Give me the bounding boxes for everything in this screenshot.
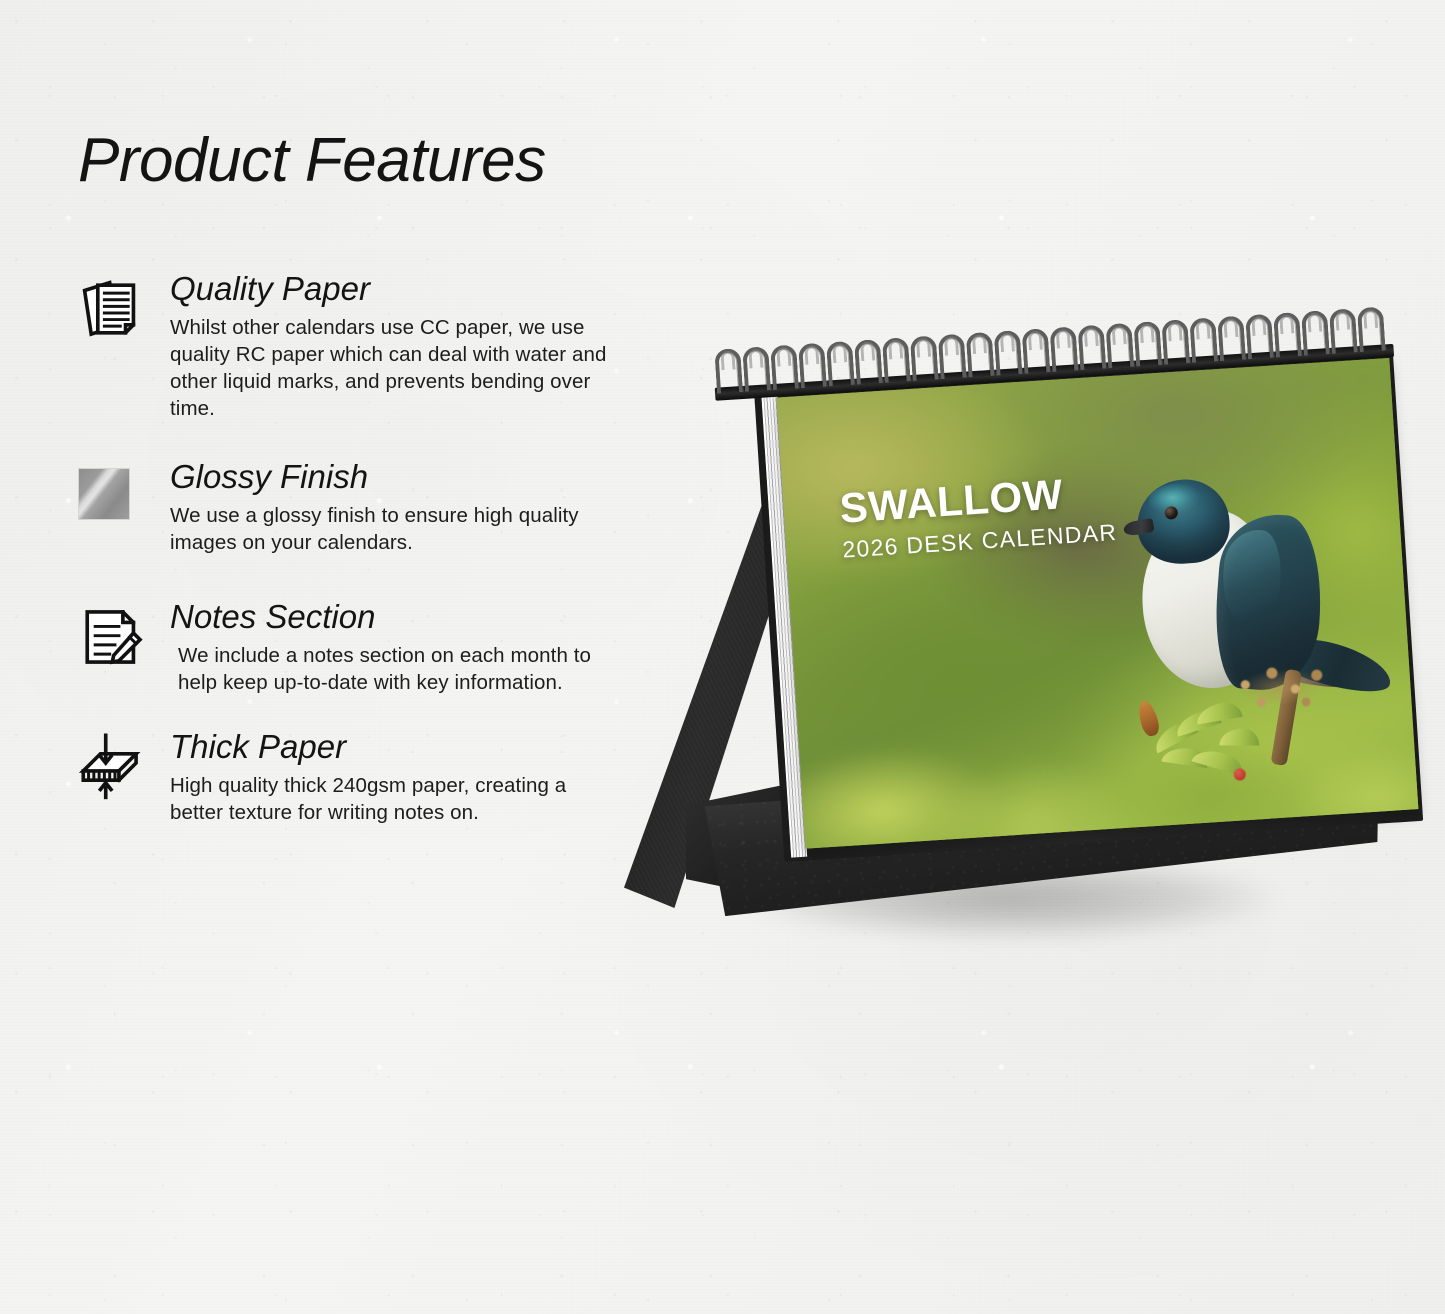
binding-wire-loop [1161,319,1190,365]
binding-wire-loop [1077,325,1106,371]
binding-wire-loop [1301,310,1330,356]
flower-bud [1135,699,1161,738]
features-column: Product Features Quality Paper Whilst ot… [78,130,638,854]
binding-wire-loop [770,344,799,390]
feature-item-glossy-finish: Glossy Finish We use a glossy finish to … [78,458,638,556]
binding-wire-loop [1357,306,1386,352]
binding-wire-loop [714,348,743,394]
binding-wire-loop [826,341,855,387]
calendar-cover-photo: SWALLOW 2026 DESK CALENDAR [777,358,1419,849]
feature-title: Glossy Finish [170,458,638,497]
gloss-swatch [78,468,130,520]
feature-text-block: Glossy Finish We use a glossy finish to … [170,458,638,556]
feature-description: We include a notes section on each month… [178,642,630,696]
binding-wire-loop [910,335,939,381]
binding-wire-loop [938,334,967,380]
desk-calendar-mockup: SWALLOW 2026 DESK CALENDAR [600,330,1420,1010]
feature-description: Whilst other calendars use CC paper, we … [170,314,622,422]
binding-wire-loop [1050,326,1079,372]
document-with-pencil-icon [78,602,144,672]
binding-wire-loop [1133,321,1162,367]
glossy-gradient-square-icon [78,468,130,520]
feature-description: We use a glossy finish to ensure high qu… [170,502,622,556]
binding-wire-loop [994,330,1023,376]
page-title: Product Features [78,130,638,192]
feature-text-block: Notes Section We include a notes section… [170,598,638,696]
leaf [1219,728,1259,745]
feature-title: Quality Paper [170,270,638,309]
stacked-documents-icon [78,274,144,344]
binding-wire-loop [798,343,827,389]
binding-wire-loop [1022,328,1051,374]
feature-item-thick-paper: Thick Paper High quality thick 240gsm pa… [78,728,638,826]
binding-wire-loop [1189,317,1218,363]
thick-slab-arrows-icon [78,732,144,802]
binding-wire-loop [1273,312,1302,358]
binding-wire-loop [882,337,911,383]
binding-wire-loop [1105,323,1134,369]
leaf [1195,700,1243,725]
binding-wire-loop [1245,314,1274,360]
leaf-sprig [1133,690,1288,787]
berry [1233,768,1246,781]
feature-description: High quality thick 240gsm paper, creatin… [170,772,622,826]
swallow-bird-illustration [1112,457,1360,761]
calendar-cover-panel: SWALLOW 2026 DESK CALENDAR [770,349,1427,859]
binding-wire-loop [854,339,883,385]
binding-wire-loop [742,346,771,392]
feature-text-block: Quality Paper Whilst other calendars use… [170,270,638,422]
binding-wire-loop [1217,316,1246,362]
feature-item-quality-paper: Quality Paper Whilst other calendars use… [78,270,638,422]
feature-title: Thick Paper [170,728,638,767]
feature-item-notes-section: Notes Section We include a notes section… [78,598,638,696]
feature-title: Notes Section [170,598,638,637]
feature-text-block: Thick Paper High quality thick 240gsm pa… [170,728,638,826]
binding-wire-loop [966,332,995,378]
binding-wire-loop [1329,308,1358,354]
